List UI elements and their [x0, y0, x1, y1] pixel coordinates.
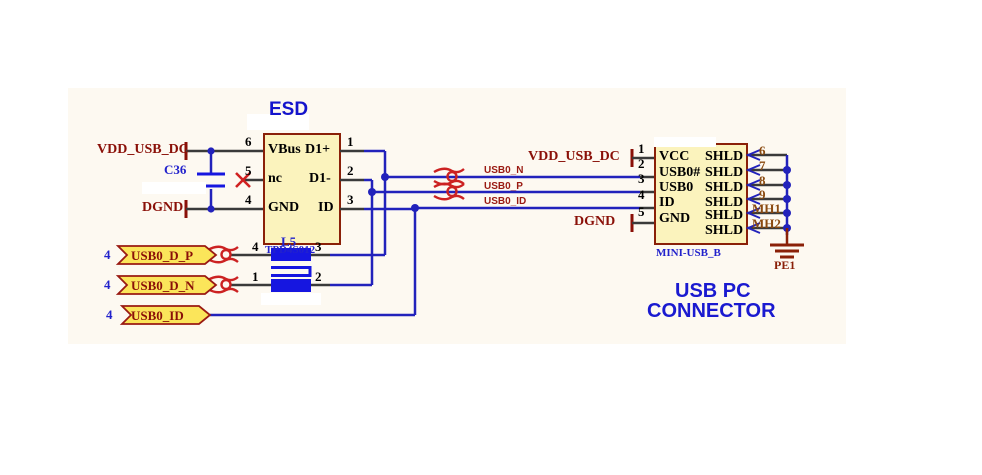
conn-shld-name-mh1: SHLD — [705, 209, 743, 223]
conn-pin-num-mh2: MH2 — [752, 217, 781, 230]
choke-pin-num-1: 1 — [252, 270, 259, 283]
esd-pin-name-gnd: GND — [268, 201, 299, 215]
sheet-port-sheet-num: 4 — [104, 278, 111, 291]
power-port-dgnd-right[interactable]: DGND — [574, 215, 615, 229]
schematic-page: ESD VDD_USB_DC DGND C36 6 5 4 VBus nc GN… — [0, 0, 982, 475]
earth-ground-designator: PE1 — [774, 259, 795, 271]
choke-designator: L5 — [281, 235, 296, 248]
choke-winding-bottom — [271, 279, 311, 292]
junction-dot — [381, 173, 389, 181]
power-port-vdd-left[interactable]: VDD_USB_DC — [97, 143, 189, 157]
net-label-usb0-n: USB0_N — [484, 166, 523, 176]
sheet-port-sheet-num: 4 — [106, 308, 113, 321]
sheet-port-usb0-d-n[interactable]: USB0_D_N — [131, 279, 195, 292]
conn-pin-name-usb0: USB0 — [659, 181, 693, 195]
conn-pin-num-9: 9 — [759, 188, 766, 201]
blank-patch — [654, 137, 716, 147]
choke-core-bar-bottom — [271, 274, 311, 277]
esd-pin-num-4: 4 — [245, 193, 252, 206]
conn-pin-num-3: 3 — [638, 172, 645, 185]
choke-pin-num-2: 2 — [315, 270, 322, 283]
conn-shld-name-7: SHLD — [705, 166, 743, 180]
conn-pin-name-id: ID — [659, 196, 675, 210]
power-port-dgnd-left[interactable]: DGND — [142, 201, 183, 215]
esd-pin-name-vbus: VBus — [268, 143, 301, 157]
esd-pin-num-5: 5 — [245, 164, 252, 177]
esd-pin-name-id: ID — [318, 201, 334, 215]
conn-pin-num-mh1: MH1 — [752, 202, 781, 215]
conn-pin-name-gnd: GND — [659, 212, 690, 226]
esd-pin-name-d1n: D1- — [309, 172, 331, 186]
choke-pin-num-4: 4 — [252, 240, 259, 253]
blank-patch — [142, 182, 206, 194]
choke-pin-num-3: 3 — [315, 240, 322, 253]
conn-pin-num-6: 6 — [759, 144, 766, 157]
conn-shld-name-mh2: SHLD — [705, 224, 743, 238]
esd-pin-num-6: 6 — [245, 135, 252, 148]
junction-dot — [368, 188, 376, 196]
net-label-usb0-id: USB0_ID — [484, 197, 526, 207]
junction-dot — [783, 181, 791, 189]
conn-pin-num-2: 2 — [638, 157, 645, 170]
choke-core-bar-top — [271, 266, 311, 269]
conn-shld-name-8: SHLD — [705, 181, 743, 195]
conn-shld-name-6: SHLD — [705, 150, 743, 164]
junction-dot — [411, 204, 419, 212]
conn-pin-num-7: 7 — [759, 159, 766, 172]
sheet-port-usb0-d-p[interactable]: USB0_D_P — [131, 249, 193, 262]
capacitor-designator: C36 — [164, 163, 186, 176]
junction-dot — [783, 209, 791, 217]
conn-pin-num-8: 8 — [759, 174, 766, 187]
junction-dot — [207, 147, 214, 154]
sheet-port-sheet-num: 4 — [104, 248, 111, 261]
conn-pin-num-4: 4 — [638, 188, 645, 201]
conn-pin-num-5: 5 — [638, 205, 645, 218]
usb-pc-title-line1: USB PC — [675, 281, 751, 301]
conn-pin-name-vcc: VCC — [659, 150, 689, 164]
conn-pin-name-usb0n: USB0# — [659, 166, 700, 180]
junction-dot — [783, 166, 791, 174]
esd-pin-name-d1p: D1+ — [305, 143, 330, 157]
wire-layer — [0, 0, 982, 475]
conn-pin-num-1: 1 — [638, 142, 645, 155]
power-port-vdd-right[interactable]: VDD_USB_DC — [528, 150, 620, 164]
esd-pin-num-3: 3 — [347, 193, 354, 206]
esd-pin-num-1: 1 — [347, 135, 354, 148]
esd-pin-num-2: 2 — [347, 164, 354, 177]
blank-patch — [261, 293, 321, 305]
junction-dot — [207, 205, 214, 212]
sheet-port-usb0-id[interactable]: USB0_ID — [131, 309, 184, 322]
net-label-usb0-p: USB0_P — [484, 182, 523, 192]
usb-pc-title-line2: CONNECTOR — [647, 301, 776, 321]
esd-block-title: ESD — [269, 100, 308, 119]
connector-part-number: MINI-USB_B — [656, 248, 721, 259]
esd-pin-name-nc: nc — [268, 172, 282, 186]
junction-dot — [783, 195, 791, 203]
